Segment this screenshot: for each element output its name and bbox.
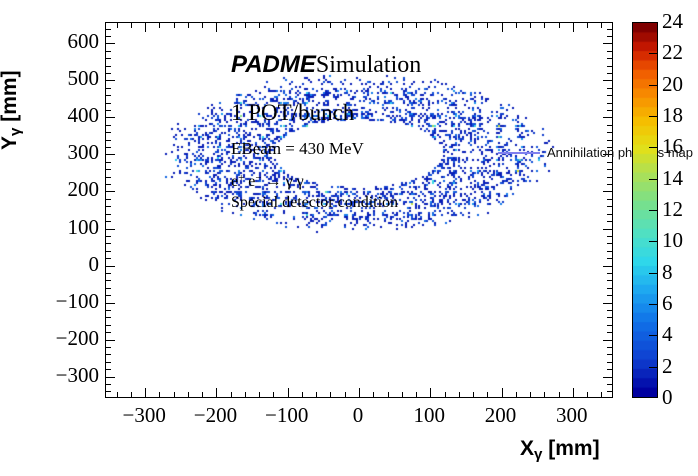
y-major-tick-right [603, 191, 612, 192]
y-major-tick [106, 154, 115, 155]
y-major-tick-right [603, 266, 612, 267]
y-minor-tick-right [607, 362, 612, 363]
y-minor-tick-right [607, 317, 612, 318]
y-minor-tick-right [607, 221, 612, 222]
x-minor-tick [516, 392, 517, 397]
y-minor-tick-right [607, 177, 612, 178]
x-minor-tick-top [459, 23, 460, 28]
colorbar-tick [649, 335, 658, 336]
y-minor-tick [106, 273, 111, 274]
y-minor-tick [106, 162, 111, 163]
pot-label: 1 POT/bunch [231, 101, 561, 124]
y-minor-tick [106, 103, 111, 104]
y-minor-tick [106, 110, 111, 111]
y-minor-tick-right [607, 199, 612, 200]
y-major-tick-right [603, 303, 612, 304]
x-minor-tick [373, 392, 374, 397]
x-minor-tick-top [273, 23, 274, 28]
y-major-tick [106, 266, 115, 267]
x-minor-tick-top [117, 23, 118, 28]
y-minor-tick [106, 332, 111, 333]
experiment-title: PADMESimulation [231, 53, 561, 77]
x-major-tick-top [359, 23, 360, 32]
colorbar-tick-label: 20 [662, 74, 683, 95]
x-minor-tick-top [473, 23, 474, 28]
x-minor-tick [459, 392, 460, 397]
colorbar-tick-label: 0 [662, 387, 673, 408]
y-minor-tick-right [607, 140, 612, 141]
colorbar-tick-label: 10 [662, 230, 683, 251]
x-tick-label: 0 [318, 405, 398, 426]
y-minor-tick-right [607, 125, 612, 126]
x-axis-title: Xγ [mm] [520, 437, 600, 463]
y-minor-tick-right [607, 280, 612, 281]
x-minor-tick [445, 392, 446, 397]
colorbar-tick [649, 85, 658, 86]
colorbar-tick-label: 6 [662, 293, 673, 314]
process-post: → γ γ [262, 173, 304, 190]
x-major-tick-top [573, 23, 574, 32]
y-minor-tick [106, 58, 111, 59]
x-minor-tick [174, 392, 175, 397]
colorbar-tick [649, 116, 658, 117]
colorbar-tick-label: 2 [662, 356, 673, 377]
y-axis-title-unit: [mm] [0, 70, 21, 127]
annotation-block: PADMESimulation 1 POT/bunch EBeam = 430 … [231, 53, 561, 211]
y-minor-tick [106, 258, 111, 259]
y-minor-tick-right [607, 354, 612, 355]
colorbar-tick [649, 367, 658, 368]
x-tick-label: 300 [532, 405, 612, 426]
colorbar-tick-label: 18 [662, 105, 683, 126]
x-tick-label: −200 [175, 405, 255, 426]
x-major-tick [359, 388, 360, 397]
x-major-tick [502, 388, 503, 397]
y-minor-tick-right [607, 384, 612, 385]
y-minor-tick-right [607, 88, 612, 89]
y-minor-tick [106, 214, 111, 215]
x-minor-tick-top [530, 23, 531, 28]
colorbar-tick [649, 179, 658, 180]
y-minor-tick [106, 147, 111, 148]
chart-root: Yγ [mm] Xγ [mm] −300−200−100010020030040… [0, 0, 698, 476]
y-major-tick-right [603, 229, 612, 230]
x-minor-tick-top [245, 23, 246, 28]
process-label: e+ e− → γ γ [231, 173, 561, 190]
y-tick-label: 100 [39, 217, 99, 238]
x-minor-tick [231, 392, 232, 397]
y-axis-title: Yγ [mm] [0, 70, 24, 150]
y-minor-tick [106, 362, 111, 363]
y-major-tick [106, 191, 115, 192]
y-minor-tick-right [607, 295, 612, 296]
y-minor-tick-right [607, 103, 612, 104]
x-minor-tick-top [131, 23, 132, 28]
y-tick-label: 400 [39, 105, 99, 126]
x-minor-tick-top [544, 23, 545, 28]
x-minor-tick [202, 392, 203, 397]
x-minor-tick [345, 392, 346, 397]
plot-frame[interactable]: PADMESimulation 1 POT/bunch EBeam = 430 … [105, 22, 613, 398]
y-minor-tick [106, 295, 111, 296]
y-minor-tick [106, 51, 111, 52]
y-minor-tick-right [607, 214, 612, 215]
y-major-tick [106, 340, 115, 341]
y-minor-tick [106, 66, 111, 67]
y-tick-label: 200 [39, 179, 99, 200]
x-minor-tick [530, 392, 531, 397]
y-minor-tick-right [607, 58, 612, 59]
y-minor-tick [106, 391, 111, 392]
y-major-tick [106, 117, 115, 118]
x-axis-title-main: X [520, 437, 534, 460]
x-minor-tick [601, 392, 602, 397]
y-minor-tick [106, 354, 111, 355]
y-axis-title-main: Y [0, 136, 21, 150]
y-minor-tick [106, 384, 111, 385]
experiment-name: PADME [231, 51, 316, 78]
y-major-tick-right [603, 117, 612, 118]
x-minor-tick [559, 392, 560, 397]
y-minor-tick-right [607, 51, 612, 52]
colorbar-tick [649, 241, 658, 242]
x-tick-label: 200 [461, 405, 541, 426]
y-tick-label: 600 [39, 31, 99, 52]
y-major-tick [106, 80, 115, 81]
y-minor-tick [106, 88, 111, 89]
x-minor-tick [402, 392, 403, 397]
y-tick-label: 500 [39, 68, 99, 89]
y-minor-tick [106, 125, 111, 126]
colorbar-tick-label: 22 [662, 42, 683, 63]
colorbar-tick [649, 147, 658, 148]
x-minor-tick-top [259, 23, 260, 28]
x-minor-tick-top [373, 23, 374, 28]
y-minor-tick [106, 369, 111, 370]
y-minor-tick-right [607, 310, 612, 311]
x-minor-tick [388, 392, 389, 397]
x-minor-tick [544, 392, 545, 397]
x-minor-tick [188, 392, 189, 397]
x-major-tick [288, 388, 289, 397]
x-major-tick [145, 388, 146, 397]
y-minor-tick [106, 317, 111, 318]
colorbar-tick-label: 12 [662, 199, 683, 220]
y-minor-tick-right [607, 251, 612, 252]
x-minor-tick-top [159, 23, 160, 28]
x-minor-tick-top [416, 23, 417, 28]
x-tick-label: −100 [247, 405, 327, 426]
y-minor-tick [106, 325, 111, 326]
x-major-tick [573, 388, 574, 397]
y-minor-tick [106, 288, 111, 289]
y-minor-tick-right [607, 132, 612, 133]
x-minor-tick [473, 392, 474, 397]
y-major-tick [106, 229, 115, 230]
y-minor-tick-right [607, 273, 612, 274]
x-major-tick-top [288, 23, 289, 32]
colorbar-tick-label: 14 [662, 168, 683, 189]
x-minor-tick-top [174, 23, 175, 28]
x-major-tick [430, 388, 431, 397]
y-minor-tick [106, 29, 111, 30]
x-minor-tick-top [202, 23, 203, 28]
condition-label: Special detector condition [231, 195, 561, 211]
legend-label: Annihilation photons map [547, 145, 693, 160]
y-minor-tick-right [607, 162, 612, 163]
x-tick-label: −300 [104, 405, 184, 426]
y-minor-tick-right [607, 206, 612, 207]
colorbar-tick-label: 8 [662, 262, 673, 283]
x-minor-tick-top [402, 23, 403, 28]
y-major-tick-right [603, 377, 612, 378]
x-minor-tick-top [601, 23, 602, 28]
y-major-tick-right [603, 340, 612, 341]
colorbar-tick [649, 210, 658, 211]
y-tick-label: 300 [39, 142, 99, 163]
y-minor-tick [106, 199, 111, 200]
y-minor-tick-right [607, 73, 612, 74]
y-minor-tick-right [607, 95, 612, 96]
x-minor-tick-top [559, 23, 560, 28]
y-minor-tick-right [607, 258, 612, 259]
y-major-tick [106, 43, 115, 44]
colorbar-tick [649, 304, 658, 305]
y-tick-label: −300 [39, 365, 99, 386]
y-minor-tick-right [607, 288, 612, 289]
colorbar-tick [649, 273, 658, 274]
colorbar-tick-label: 4 [662, 324, 673, 345]
y-major-tick [106, 377, 115, 378]
x-axis-title-unit: [mm] [542, 437, 599, 460]
y-minor-tick-right [607, 36, 612, 37]
y-minor-tick [106, 169, 111, 170]
x-major-tick-top [216, 23, 217, 32]
y-minor-tick [106, 36, 111, 37]
x-minor-tick [259, 392, 260, 397]
x-minor-tick [416, 392, 417, 397]
x-minor-tick [302, 392, 303, 397]
x-minor-tick-top [188, 23, 189, 28]
x-minor-tick-top [302, 23, 303, 28]
y-minor-tick [106, 140, 111, 141]
x-minor-tick-top [388, 23, 389, 28]
y-minor-tick-right [607, 243, 612, 244]
y-minor-tick [106, 184, 111, 185]
colorbar-tick-label: 24 [662, 11, 683, 32]
y-minor-tick [106, 177, 111, 178]
y-minor-tick [106, 95, 111, 96]
x-minor-tick [316, 392, 317, 397]
x-minor-tick-top [516, 23, 517, 28]
x-minor-tick-top [345, 23, 346, 28]
x-minor-tick-top [330, 23, 331, 28]
x-minor-tick [131, 392, 132, 397]
x-minor-tick [330, 392, 331, 397]
y-minor-tick [106, 347, 111, 348]
x-major-tick-top [145, 23, 146, 32]
x-minor-tick-top [587, 23, 588, 28]
y-minor-tick [106, 206, 111, 207]
y-minor-tick [106, 280, 111, 281]
y-minor-tick-right [607, 66, 612, 67]
x-major-tick-top [430, 23, 431, 32]
y-major-tick [106, 303, 115, 304]
y-tick-label: 0 [39, 254, 99, 275]
y-minor-tick-right [607, 29, 612, 30]
y-minor-tick-right [607, 332, 612, 333]
legend: Annihilation photons map [498, 145, 693, 160]
y-major-tick-right [603, 43, 612, 44]
x-minor-tick-top [316, 23, 317, 28]
y-minor-tick [106, 243, 111, 244]
y-minor-tick-right [607, 369, 612, 370]
x-minor-tick [487, 392, 488, 397]
y-minor-tick-right [607, 325, 612, 326]
y-minor-tick-right [607, 347, 612, 348]
x-minor-tick [273, 392, 274, 397]
y-minor-tick-right [607, 184, 612, 185]
x-minor-tick-top [231, 23, 232, 28]
y-minor-tick-right [607, 391, 612, 392]
colorbar-tick [649, 53, 658, 54]
y-minor-tick-right [607, 110, 612, 111]
y-tick-label: −100 [39, 291, 99, 312]
y-minor-tick [106, 236, 111, 237]
x-major-tick [216, 388, 217, 397]
legend-line-marker [498, 152, 540, 154]
y-minor-tick [106, 221, 111, 222]
x-minor-tick [159, 392, 160, 397]
x-tick-label: 100 [389, 405, 469, 426]
y-minor-tick [106, 251, 111, 252]
y-major-tick-right [603, 80, 612, 81]
y-minor-tick [106, 310, 111, 311]
x-major-tick-top [502, 23, 503, 32]
x-minor-tick [245, 392, 246, 397]
x-minor-tick [587, 392, 588, 397]
experiment-mode: Simulation [316, 52, 421, 78]
y-axis-title-sub: γ [7, 128, 24, 136]
y-minor-tick [106, 132, 111, 133]
x-minor-tick-top [445, 23, 446, 28]
y-minor-tick [106, 73, 111, 74]
y-minor-tick-right [607, 236, 612, 237]
x-minor-tick [117, 392, 118, 397]
x-minor-tick-top [487, 23, 488, 28]
y-minor-tick-right [607, 169, 612, 170]
process-mid: e [244, 173, 255, 190]
y-tick-label: −200 [39, 328, 99, 349]
